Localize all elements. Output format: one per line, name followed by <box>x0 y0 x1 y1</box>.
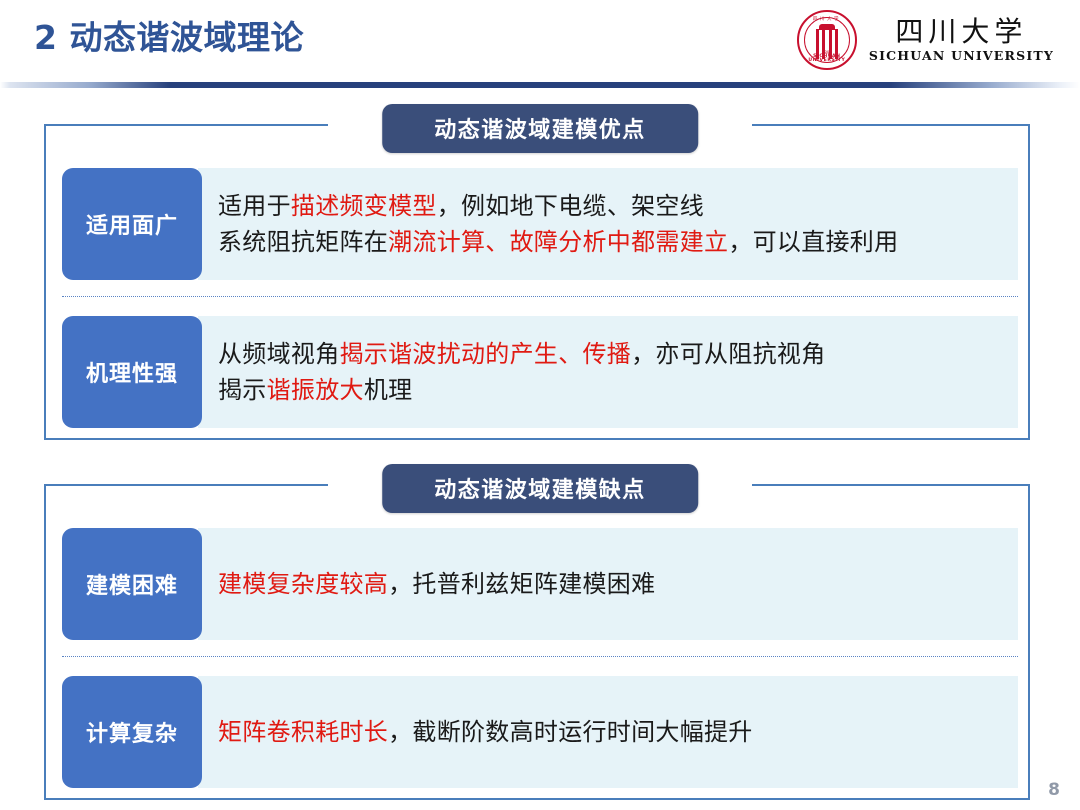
page-title: 2 动态谐波域理论 <box>34 11 304 59</box>
content-row: 建模困难建模复杂度较高，托普利兹矩阵建模困难 <box>62 528 1018 640</box>
row-body: 建模复杂度较高，托普利兹矩阵建模困难 <box>198 528 1018 640</box>
row-separator <box>62 656 1018 657</box>
row-label-badge: 适用面广 <box>62 168 202 280</box>
plain-text: 机理 <box>364 376 413 404</box>
content-row: 计算复杂矩阵卷积耗时长，截断阶数高时运行时间大幅提升 <box>62 676 1018 788</box>
emblem-top-text: 四川大学 <box>799 18 855 23</box>
row-separator <box>62 296 1018 297</box>
highlighted-text: 矩阵卷积耗时长 <box>218 718 388 746</box>
row-body: 从频域视角揭示谐波扰动的产生、传播，亦可从阻抗视角揭示谐振放大机理 <box>198 316 1018 428</box>
highlighted-text: 揭示谐波扰动的产生、传播 <box>340 340 632 368</box>
row-text-line: 建模复杂度较高，托普利兹矩阵建模困难 <box>218 566 1004 602</box>
row-text-line: 从频域视角揭示谐波扰动的产生、传播，亦可从阻抗视角 <box>218 336 1004 372</box>
university-name-en: SICHUAN UNIVERSITY <box>869 48 1054 63</box>
plain-text: 系统阻抗矩阵在 <box>218 228 388 256</box>
plain-text: ，可以直接利用 <box>728 228 898 256</box>
plain-text: 揭示 <box>218 376 267 404</box>
row-text-line: 适用于描述频变模型，例如地下电缆、架空线 <box>218 188 1004 224</box>
row-text-line: 系统阻抗矩阵在潮流计算、故障分析中都需建立，可以直接利用 <box>218 224 1004 260</box>
content-row: 适用面广适用于描述频变模型，例如地下电缆、架空线系统阻抗矩阵在潮流计算、故障分析… <box>62 168 1018 280</box>
highlighted-text: 谐振放大 <box>267 376 364 404</box>
title-divider-bar <box>0 82 1080 88</box>
plain-text: ，截断阶数高时运行时间大幅提升 <box>388 718 753 746</box>
row-label-badge: 建模困难 <box>62 528 202 640</box>
slide-header: 2 动态谐波域理论 四川大学 1896 SICHUAN UNIVERSITY 四… <box>0 0 1080 90</box>
row-text-line: 矩阵卷积耗时长，截断阶数高时运行时间大幅提升 <box>218 714 1004 750</box>
content-row: 机理性强从频域视角揭示谐波扰动的产生、传播，亦可从阻抗视角揭示谐振放大机理 <box>62 316 1018 428</box>
section-top-rule-left-1 <box>44 124 328 126</box>
highlighted-text: 潮流计算、故障分析中都需建立 <box>388 228 728 256</box>
row-text-line: 揭示谐振放大机理 <box>218 372 1004 408</box>
emblem-bottom-text: SICHUAN UNIVERSITY <box>799 55 855 64</box>
plain-text: ，托普利兹矩阵建模困难 <box>388 570 655 598</box>
plain-text: ，例如地下电缆、架空线 <box>437 192 704 220</box>
highlighted-text: 描述频变模型 <box>291 192 437 220</box>
university-logo: 四川大学 1896 SICHUAN UNIVERSITY 四川大学 SICHUA… <box>797 8 1054 72</box>
plain-text: 从频域视角 <box>218 340 340 368</box>
university-wordmark: 四川大学 SICHUAN UNIVERSITY <box>869 17 1054 63</box>
section-top-rule-left-2 <box>44 484 328 486</box>
sichuan-university-emblem-icon: 四川大学 1896 SICHUAN UNIVERSITY <box>797 10 857 70</box>
row-body: 矩阵卷积耗时长，截断阶数高时运行时间大幅提升 <box>198 676 1018 788</box>
section-badge-1: 动态谐波域建模优点 <box>382 104 698 153</box>
row-body: 适用于描述频变模型，例如地下电缆、架空线系统阻抗矩阵在潮流计算、故障分析中都需建… <box>198 168 1018 280</box>
section-top-rule-right-2 <box>752 484 1030 486</box>
plain-text: 适用于 <box>218 192 291 220</box>
plain-text: ，亦可从阻抗视角 <box>631 340 825 368</box>
section-badge-2: 动态谐波域建模缺点 <box>382 464 698 513</box>
university-name-cn: 四川大学 <box>895 17 1027 46</box>
section-top-rule-right-1 <box>752 124 1030 126</box>
page-number: 8 <box>1048 780 1060 800</box>
row-label-badge: 计算复杂 <box>62 676 202 788</box>
row-label-badge: 机理性强 <box>62 316 202 428</box>
highlighted-text: 建模复杂度较高 <box>218 570 388 598</box>
